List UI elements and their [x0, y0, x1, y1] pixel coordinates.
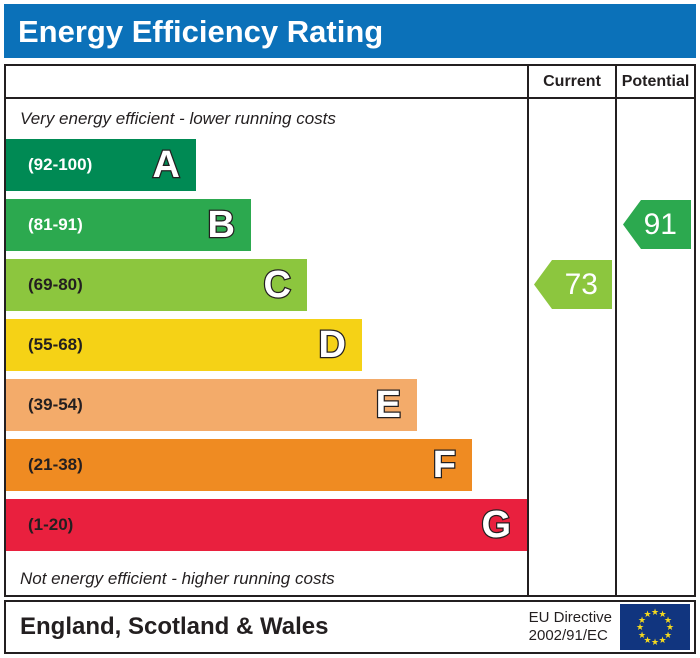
band-bar-b: (81-91)B	[6, 199, 251, 251]
column-header-current: Current	[527, 66, 615, 97]
band-range-label-e: (39-54)	[6, 395, 83, 415]
footer-directive-line1: EU Directive	[529, 609, 612, 627]
band-letter-b: B	[208, 206, 235, 244]
footer-directive-label: EU Directive 2002/91/EC	[529, 609, 620, 644]
chart-title-bar: Energy Efficiency Rating	[4, 4, 696, 58]
caption-not-efficient: Not energy efficient - higher running co…	[6, 560, 527, 597]
column-divider-current	[527, 99, 529, 595]
chart-footer: England, Scotland & Wales EU Directive 2…	[4, 600, 696, 654]
column-header-row: Current Potential	[6, 66, 694, 99]
current-rating-arrow: 73	[534, 260, 612, 309]
band-letter-c: C	[264, 266, 291, 304]
page-title: Energy Efficiency Rating	[4, 16, 383, 47]
band-bar-e: (39-54)E	[6, 379, 417, 431]
band-range-label-f: (21-38)	[6, 455, 83, 475]
caption-very-efficient: Very energy efficient - lower running co…	[6, 99, 527, 139]
eu-flag-star: ★	[651, 638, 659, 646]
band-bar-d: (55-68)D	[6, 319, 362, 371]
band-range-label-d: (55-68)	[6, 335, 83, 355]
energy-efficiency-rating-chart: Energy Efficiency Rating Current Potenti…	[0, 0, 700, 658]
eu-flag-star: ★	[644, 610, 652, 618]
band-letter-d: D	[319, 326, 346, 364]
band-letter-g: G	[481, 506, 511, 544]
band-bar-f: (21-38)F	[6, 439, 472, 491]
band-letter-f: F	[433, 446, 456, 484]
band-letter-a: A	[153, 146, 180, 184]
column-divider-potential	[615, 99, 617, 595]
band-range-label-b: (81-91)	[6, 215, 83, 235]
eu-flag-star: ★	[659, 636, 667, 644]
band-bar-g: (1-20)G	[6, 499, 527, 551]
column-header-potential: Potential	[615, 66, 694, 97]
band-range-label-c: (69-80)	[6, 275, 83, 295]
footer-directive-line2: 2002/91/EC	[529, 627, 612, 645]
band-bar-c: (69-80)C	[6, 259, 307, 311]
band-range-label-g: (1-20)	[6, 515, 73, 535]
band-letter-e: E	[376, 386, 401, 424]
eu-flag-icon: ★★★★★★★★★★★★	[620, 604, 690, 650]
band-bar-a: (92-100)A	[6, 139, 196, 191]
band-bars-group: (92-100)A(81-91)B(69-80)C(55-68)D(39-54)…	[6, 139, 527, 560]
potential-rating-arrow: 91	[623, 200, 691, 249]
chart-body: Current Potential Very energy efficient …	[4, 64, 696, 597]
footer-region-label: England, Scotland & Wales	[6, 615, 529, 639]
band-range-label-a: (92-100)	[6, 155, 92, 175]
